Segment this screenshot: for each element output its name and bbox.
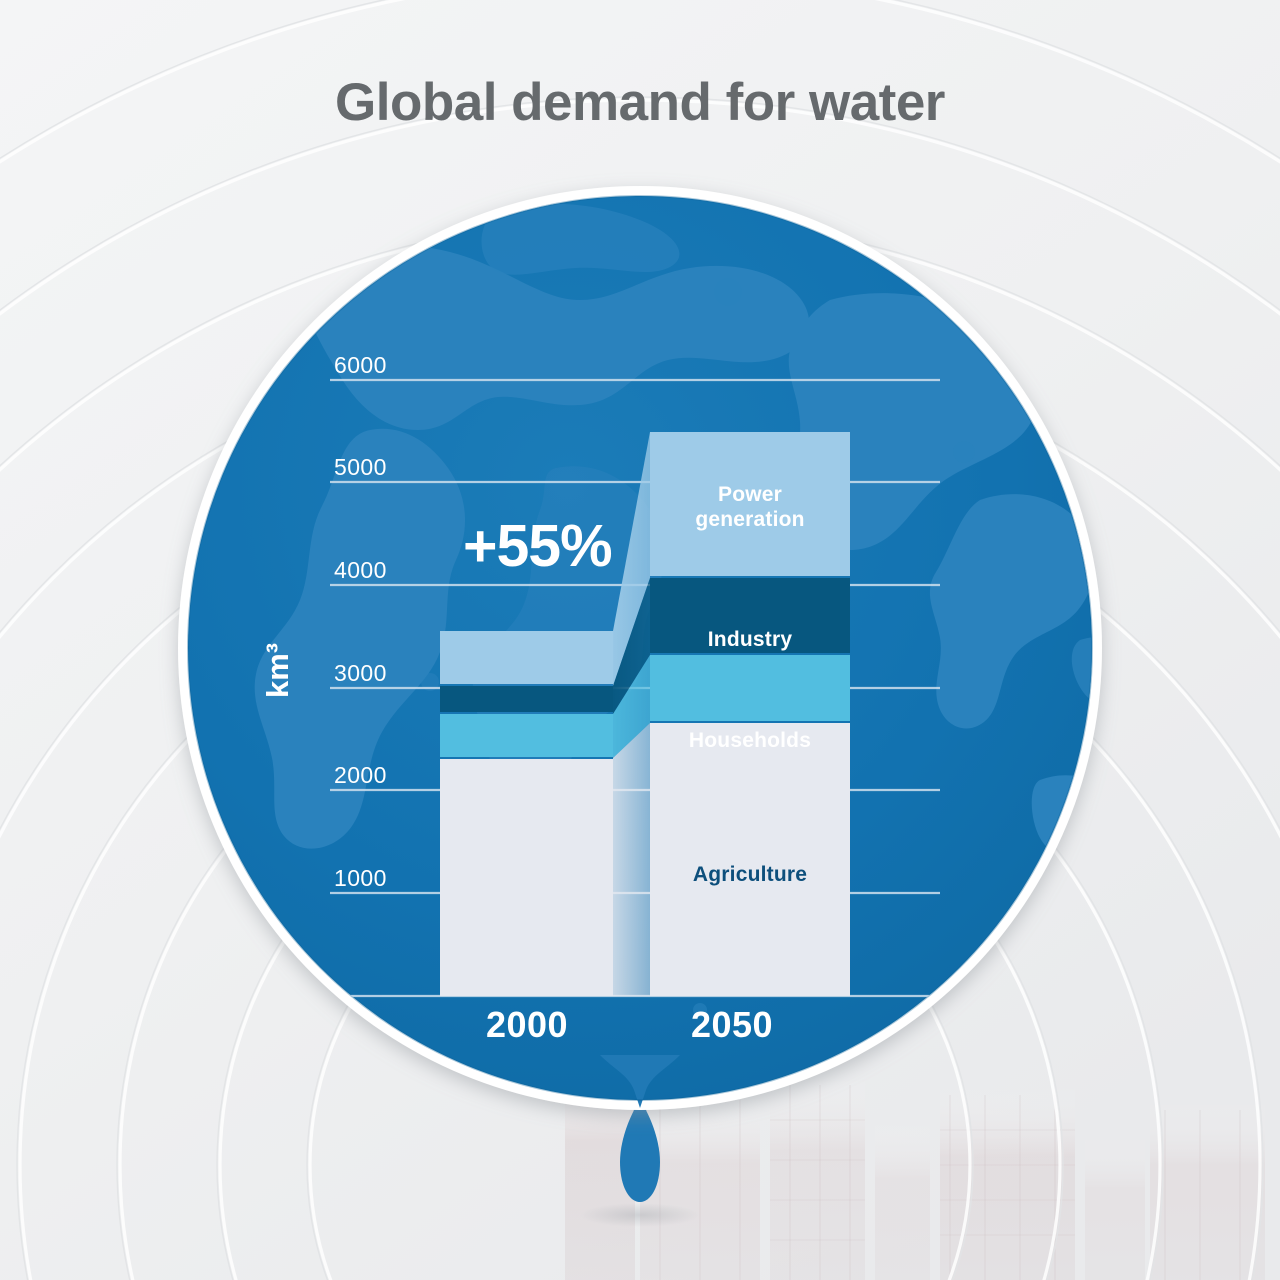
y-tick-4000: 4000: [334, 557, 387, 584]
y-tick-1000: 1000: [334, 865, 387, 892]
y-axis-unit-label: km³: [260, 638, 296, 698]
chart-text-layer: Global demand for water km³ 6000 5000 40…: [0, 0, 1280, 1280]
segment-label-power-generation: Power generation: [650, 482, 850, 532]
y-tick-2000: 2000: [334, 762, 387, 789]
x-label-2000: 2000: [427, 1004, 627, 1046]
y-tick-6000: 6000: [334, 352, 387, 379]
y-tick-3000: 3000: [334, 660, 387, 687]
segment-label-power-line1: Power: [718, 483, 782, 506]
infographic-canvas: Global demand for water km³ 6000 5000 40…: [0, 0, 1280, 1280]
segment-label-agriculture: Agriculture: [650, 862, 850, 887]
growth-annotation: +55%: [463, 512, 612, 580]
page-title: Global demand for water: [0, 72, 1280, 133]
x-label-2050: 2050: [632, 1004, 832, 1046]
segment-label-households: Households: [650, 728, 850, 753]
y-tick-5000: 5000: [334, 454, 387, 481]
segment-label-power-line2: generation: [695, 508, 804, 531]
segment-label-industry: Industry: [650, 627, 850, 652]
